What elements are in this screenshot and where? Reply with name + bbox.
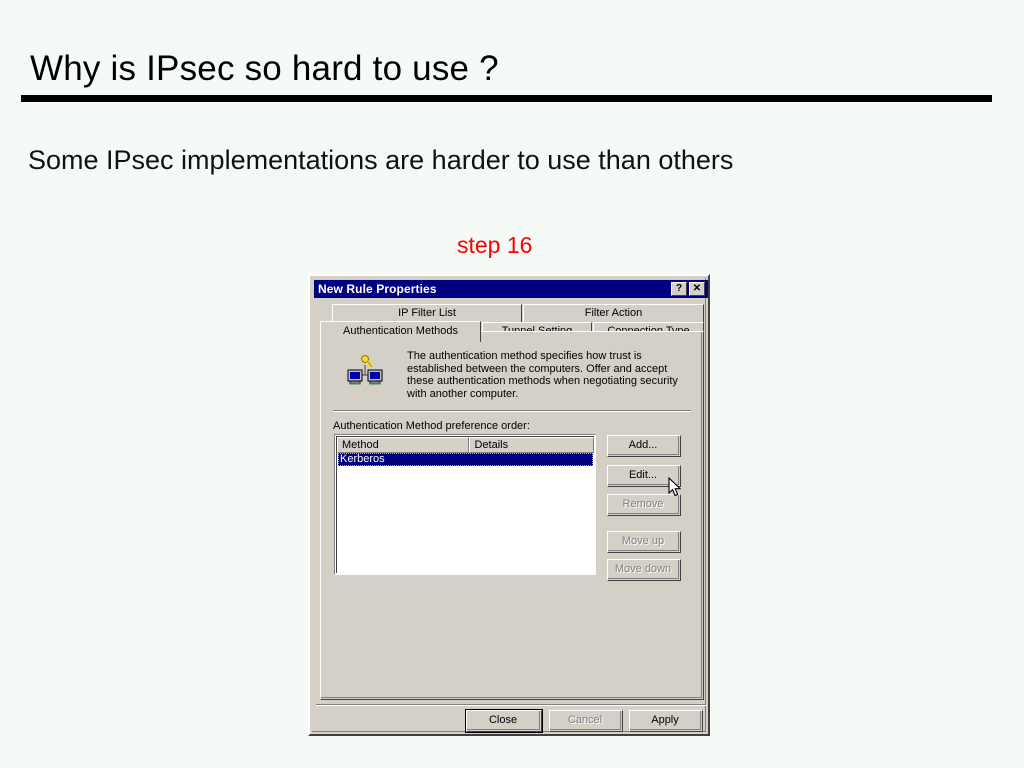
titlebar-button-group: ? ✕ xyxy=(671,282,705,296)
move-up-button[interactable]: Move up xyxy=(607,531,681,553)
listview-header: Method Details xyxy=(337,437,594,453)
tab-filter-action[interactable]: Filter Action xyxy=(523,304,704,323)
remove-button-label: Remove xyxy=(608,495,679,514)
page-title: Why is IPsec so hard to use ? xyxy=(30,49,499,89)
list-item[interactable]: Kerberos xyxy=(338,453,593,466)
move-up-button-label: Move up xyxy=(608,532,679,551)
preference-order-label: Authentication Method preference order: xyxy=(333,420,530,432)
move-down-button-label: Move down xyxy=(608,560,679,579)
close-button[interactable]: Close xyxy=(466,710,542,732)
add-button[interactable]: Add... xyxy=(607,435,681,457)
close-button-default-frame: Close xyxy=(465,709,543,733)
dialog-titlebar[interactable]: New Rule Properties ? ✕ xyxy=(314,280,708,298)
edit-button[interactable]: Edit... xyxy=(607,465,681,487)
dialog-title: New Rule Properties xyxy=(318,282,437,296)
help-icon[interactable]: ? xyxy=(671,282,687,296)
title-divider xyxy=(21,95,992,102)
tab-panel-authentication-methods: The authentication method specifies how … xyxy=(320,331,704,700)
cancel-button-label: Cancel xyxy=(550,711,621,730)
edit-button-label: Edit... xyxy=(608,466,679,485)
key-and-computers-icon xyxy=(347,354,383,386)
slide-subtitle: Some IPsec implementations are harder to… xyxy=(28,145,733,176)
close-button-label: Close xyxy=(467,711,540,730)
step-annotation: step 16 xyxy=(457,232,532,259)
authentication-methods-listview[interactable]: Method Details Kerberos xyxy=(334,434,596,575)
column-header-details[interactable]: Details xyxy=(469,437,594,453)
column-header-method[interactable]: Method xyxy=(337,437,469,453)
tab-authentication-methods[interactable]: Authentication Methods xyxy=(320,321,481,342)
cancel-button[interactable]: Cancel xyxy=(549,710,623,732)
apply-button[interactable]: Apply xyxy=(629,710,703,732)
remove-button[interactable]: Remove xyxy=(607,494,681,516)
footer-separator xyxy=(316,704,706,706)
new-rule-properties-dialog: New Rule Properties ? ✕ IP Filter List F… xyxy=(308,274,710,736)
add-button-label: Add... xyxy=(608,436,679,455)
close-icon[interactable]: ✕ xyxy=(689,282,705,296)
move-down-button[interactable]: Move down xyxy=(607,559,681,581)
section-separator xyxy=(333,410,691,412)
apply-button-label: Apply xyxy=(630,711,701,730)
authentication-description: The authentication method specifies how … xyxy=(407,350,697,400)
listview-content[interactable]: Method Details Kerberos xyxy=(336,436,594,573)
